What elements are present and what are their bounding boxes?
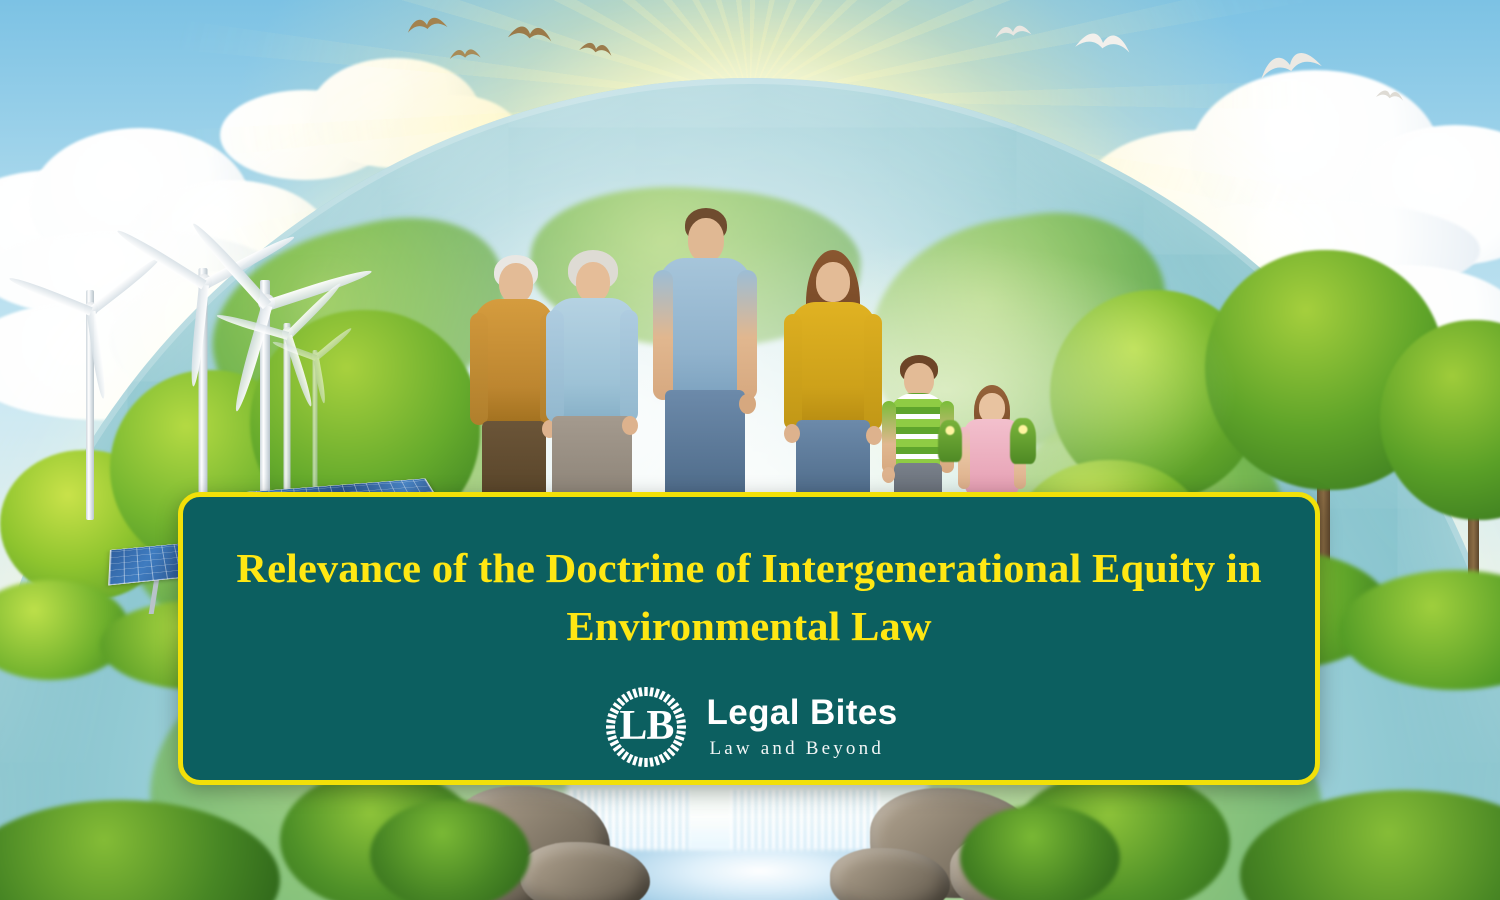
bird-icon [992, 20, 1034, 44]
title-banner: Relevance of the Doctrine of Intergenera… [178, 492, 1320, 785]
waterfall-foliage-left-2 [370, 800, 530, 900]
poster-canvas: Relevance of the Doctrine of Intergenera… [0, 0, 1500, 900]
logo-monogram: LB [619, 702, 673, 750]
bird-icon [448, 45, 483, 64]
logo-tagline: Law and Beyond [706, 738, 897, 760]
bird-icon [504, 20, 556, 48]
bird-icon [1071, 25, 1136, 61]
logo-brand-name: Legal Bites [706, 695, 897, 730]
page-title: Relevance of the Doctrine of Intergenera… [185, 539, 1313, 655]
waterfall-foliage-right-2 [960, 805, 1120, 900]
legal-bites-logo[interactable]: LB Legal Bites Law and Beyond [600, 681, 897, 773]
logo-ring-icon: LB [600, 681, 692, 773]
